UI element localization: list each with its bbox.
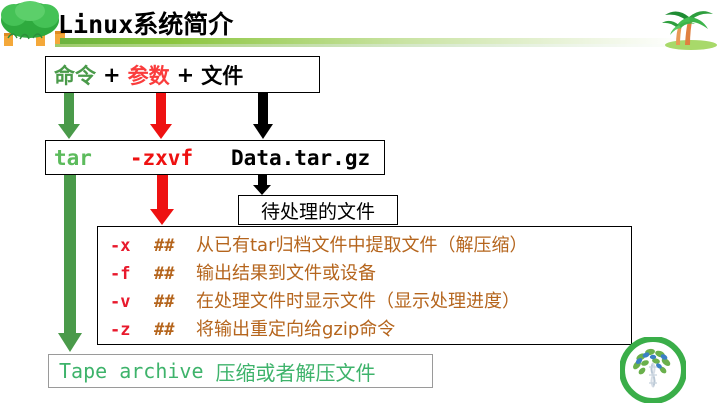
option-flag: -v <box>110 292 154 312</box>
option-flag: -f <box>110 264 154 284</box>
arrow-file-black <box>250 93 276 141</box>
summary-english: Tape archive <box>59 359 204 383</box>
slide-canvas: Linux系统简介 命令 + 参数 + 文件 <box>0 0 725 405</box>
header-rule-secondary <box>55 44 695 47</box>
target-file-box: 待处理的文件 <box>238 195 398 225</box>
command-gap-2 <box>193 146 231 170</box>
command-name: tar <box>54 146 92 170</box>
command-gap-1 <box>92 146 130 170</box>
option-row: -x ## 从已有tar归档文件中提取文件（解压缩） <box>110 231 631 259</box>
palm-tree-icon <box>655 0 723 50</box>
option-row: -f ## 输出结果到文件或设备 <box>110 259 631 287</box>
option-hash: ## <box>154 292 196 312</box>
formula-plus-2: + <box>170 63 202 87</box>
page-title: Linux系统简介 <box>58 5 233 41</box>
option-hash: ## <box>154 264 196 284</box>
option-flag: -z <box>110 320 154 340</box>
formula-command-label: 命令 <box>54 60 96 90</box>
option-hash: ## <box>154 320 196 340</box>
option-row: -v ## 在处理文件时显示文件（显示处理进度） <box>110 287 631 315</box>
command-box: tar -zxvf Data.tar.gz <box>45 140 385 175</box>
option-description: 将输出重定向给gzip命令 <box>196 315 395 341</box>
arrow-options-red <box>148 175 176 227</box>
option-description: 输出结果到文件或设备 <box>196 259 376 285</box>
arrow-argument-red <box>148 93 174 141</box>
formula-argument-label: 参数 <box>128 60 170 90</box>
arrow-command-green <box>56 93 82 141</box>
summary-spacer <box>204 359 216 383</box>
summary-chinese: 压缩或者解压文件 <box>216 357 376 386</box>
option-row: -z ## 将输出重定向给gzip命令 <box>110 315 631 343</box>
options-explanation-box: -x ## 从已有tar归档文件中提取文件（解压缩） -f ## 输出结果到文件… <box>97 226 632 345</box>
formula-box: 命令 + 参数 + 文件 <box>45 56 320 93</box>
slide-header: Linux系统简介 <box>0 0 725 52</box>
formula-file-label: 文件 <box>201 60 243 90</box>
formula-plus-1: + <box>96 63 128 87</box>
command-file: Data.tar.gz <box>231 146 370 170</box>
option-description: 在处理文件时显示文件（显示处理进度） <box>196 287 520 313</box>
option-description: 从已有tar归档文件中提取文件（解压缩） <box>196 231 528 257</box>
arrow-tar-to-summary-green <box>56 175 84 355</box>
command-options: -zxvf <box>130 146 193 170</box>
option-flag: -x <box>110 236 154 256</box>
target-file-label: 待处理的文件 <box>261 197 375 224</box>
summary-box: Tape archive 压缩或者解压文件 <box>48 354 433 388</box>
option-hash: ## <box>154 236 196 256</box>
biotrainee-tree-logo <box>620 337 686 403</box>
arrow-file-to-target-black <box>250 175 274 197</box>
